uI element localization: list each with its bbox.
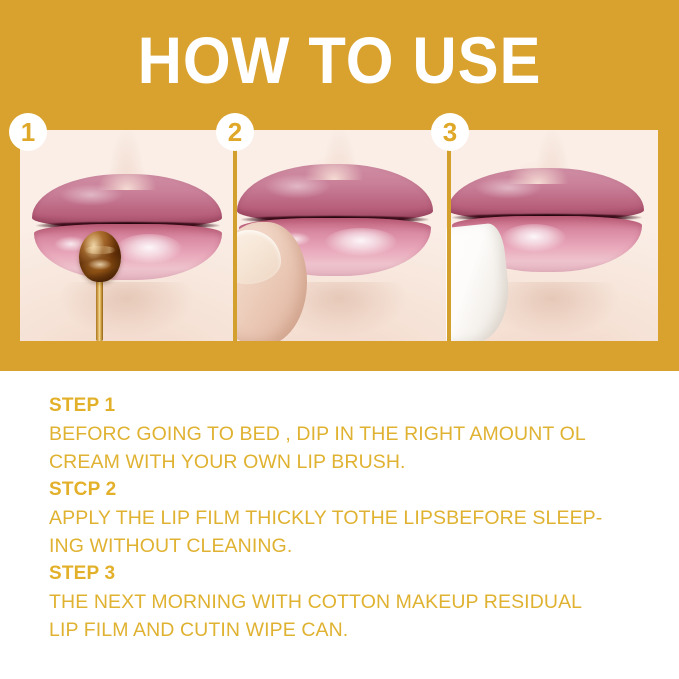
step-badge-3-label: 3 [443, 119, 457, 145]
lip-gloss-highlight [502, 224, 566, 252]
lip-gloss-highlight [116, 234, 182, 264]
step-3-line-1: THE NEXT MORNING WITH COTTON MAKEUP RESI… [49, 588, 649, 616]
instruction-step-1: STEP 1 BEFORC GOING TO BED , DIP IN THE … [49, 392, 649, 476]
photo-panel-3 [446, 130, 658, 341]
instruction-step-2: STCP 2 APPLY THE LIP FILM THICKLY TOTHE … [49, 476, 649, 560]
step-3-heading: STEP 3 [49, 560, 649, 588]
instruction-step-3: STEP 3 THE NEXT MORNING WITH COTTON MAKE… [49, 560, 649, 644]
step-1-heading: STEP 1 [49, 392, 649, 420]
cupids-bow-highlight [305, 154, 363, 180]
panel-divider-2 [447, 128, 451, 341]
applicator-stem [96, 278, 103, 341]
step-badge-3: 3 [431, 113, 469, 151]
photo-panel-2 [233, 130, 446, 341]
photo-panel-1 [20, 130, 233, 341]
chin-shadow [58, 282, 194, 337]
instructions-list: STEP 1 BEFORC GOING TO BED , DIP IN THE … [49, 392, 649, 644]
applicator-bead-icon [79, 231, 121, 282]
step-3-line-2: LIP FILM AND CUTIN WIPE CAN. [49, 616, 649, 644]
page-title: HOW TO USE [24, 27, 655, 93]
step-badge-2: 2 [216, 113, 254, 151]
lip-gloss-highlight [325, 228, 397, 256]
step-2-heading: STCP 2 [49, 476, 649, 504]
step-1-line-1: BEFORC GOING TO BED , DIP IN THE RIGHT A… [49, 420, 649, 448]
step-1-line-2: CREAM WITH YOUR OWN LIP BRUSH. [49, 448, 649, 476]
step-2-line-1: APPLY THE LIP FILM THICKLY TOTHE LIPSBEF… [49, 504, 649, 532]
step-badge-1: 1 [9, 113, 47, 151]
panel-divider-1 [233, 128, 237, 341]
step-2-line-2: ING WITHOUT CLEANING. [49, 532, 649, 560]
cupids-bow-highlight [98, 164, 156, 190]
step-badge-1-label: 1 [21, 119, 35, 145]
how-to-use-infographic: HOW TO USE [0, 0, 679, 679]
step-badge-2-label: 2 [228, 119, 242, 145]
photo-strip [20, 130, 658, 341]
cupids-bow-highlight [508, 160, 568, 184]
